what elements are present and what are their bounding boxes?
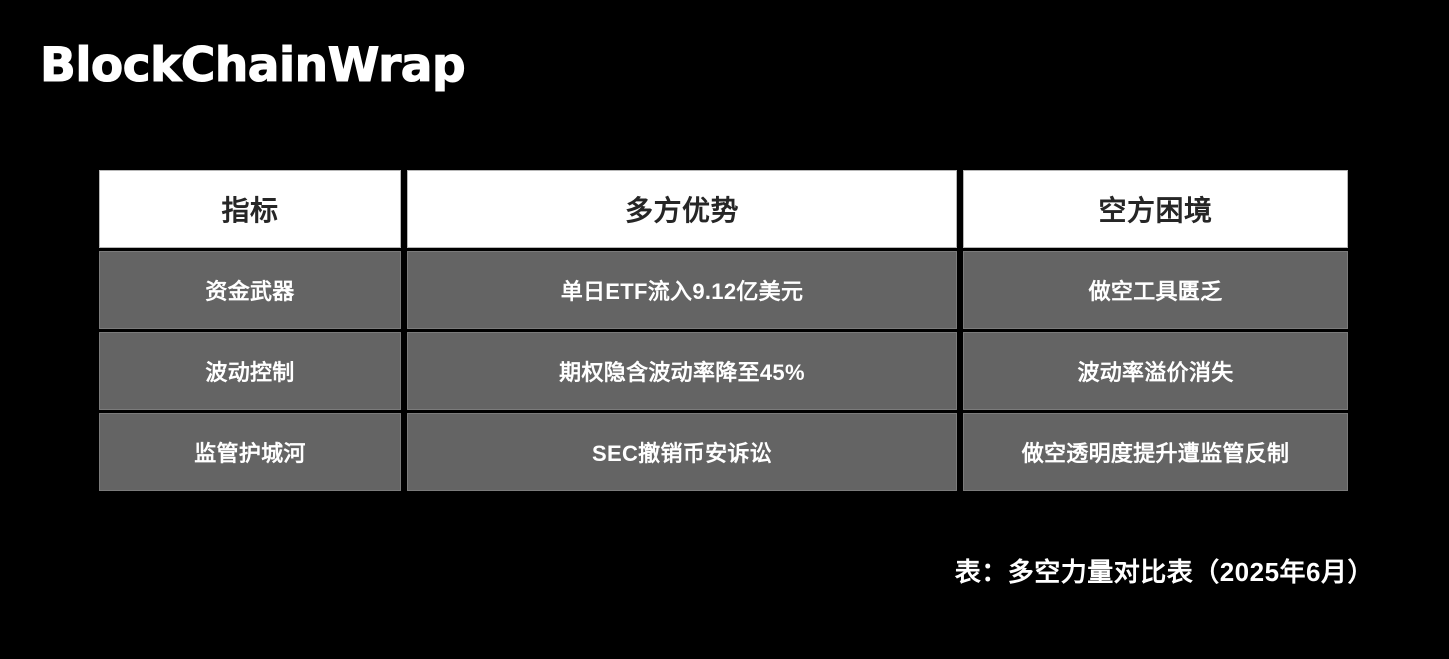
cell-metric: 监管护城河	[99, 413, 401, 491]
cell-bear: 做空透明度提升遭监管反制	[963, 413, 1348, 491]
cell-bear: 做空工具匮乏	[963, 251, 1348, 329]
table-row: 监管护城河 SEC撤销币安诉讼 做空透明度提升遭监管反制	[99, 413, 1348, 491]
cell-metric: 资金武器	[99, 251, 401, 329]
table-row: 资金武器 单日ETF流入9.12亿美元 做空工具匮乏	[99, 251, 1348, 329]
cell-bull: 期权隐含波动率降至45%	[407, 332, 957, 410]
cell-bull: 单日ETF流入9.12亿美元	[407, 251, 957, 329]
comparison-table-container: 指标 多方优势 空方困境 资金武器 单日ETF流入9.12亿美元 做空工具匮乏 …	[99, 170, 1348, 491]
brand-title: BlockChainWrap	[40, 40, 465, 92]
cell-bull: SEC撤销币安诉讼	[407, 413, 957, 491]
column-header-metric: 指标	[99, 170, 401, 248]
cell-metric: 波动控制	[99, 332, 401, 410]
table-body: 资金武器 单日ETF流入9.12亿美元 做空工具匮乏 波动控制 期权隐含波动率降…	[99, 251, 1348, 491]
table-caption: 表：多空力量对比表（2025年6月）	[955, 552, 1374, 589]
column-header-bear: 空方困境	[963, 170, 1348, 248]
cell-bear: 波动率溢价消失	[963, 332, 1348, 410]
table-header-row: 指标 多方优势 空方困境	[99, 170, 1348, 248]
table-header: 指标 多方优势 空方困境	[99, 170, 1348, 248]
slide-canvas: BlockChainWrap 指标 多方优势 空方困境 资金武器 单日ETF流入…	[0, 0, 1449, 659]
table-row: 波动控制 期权隐含波动率降至45% 波动率溢价消失	[99, 332, 1348, 410]
comparison-table: 指标 多方优势 空方困境 资金武器 单日ETF流入9.12亿美元 做空工具匮乏 …	[93, 167, 1354, 494]
column-header-bull: 多方优势	[407, 170, 957, 248]
